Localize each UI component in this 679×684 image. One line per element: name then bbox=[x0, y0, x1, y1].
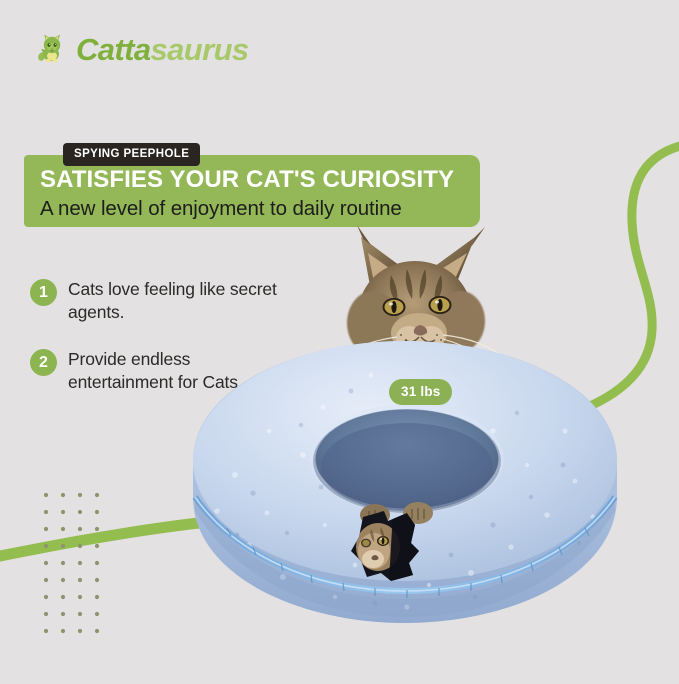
brand-name-bold: Catta bbox=[76, 32, 151, 67]
infographic-canvas: Cattasaurus SATISFIES YOUR CAT'S CURIOSI… bbox=[0, 0, 679, 679]
weight-badge: 31 lbs bbox=[389, 379, 452, 405]
benefit-number-badge: 1 bbox=[30, 279, 57, 306]
page-subtitle: A new level of enjoyment to daily routin… bbox=[40, 197, 488, 222]
dot-grid-decoration bbox=[43, 492, 117, 647]
list-item: 1 Cats love feeling like secret agents. bbox=[30, 278, 295, 324]
list-item: 2 Provide endless entertainment for Cats bbox=[30, 348, 295, 394]
benefit-text: Cats love feeling like secret agents. bbox=[68, 278, 295, 324]
benefit-text: Provide endless entertainment for Cats bbox=[68, 348, 295, 394]
brand-name: Cattasaurus bbox=[76, 34, 249, 65]
cat-dinosaur-mascot-icon bbox=[36, 32, 70, 66]
brand-name-light: saurus bbox=[151, 32, 249, 67]
benefit-list: 1 Cats love feeling like secret agents. … bbox=[30, 278, 295, 418]
status-badge: SPYING PEEPHOLE bbox=[63, 143, 200, 166]
page-title: SATISFIES YOUR CAT'S CURIOSITY bbox=[40, 168, 480, 192]
benefit-number-badge: 2 bbox=[30, 349, 57, 376]
brand-logo: Cattasaurus bbox=[36, 32, 249, 66]
